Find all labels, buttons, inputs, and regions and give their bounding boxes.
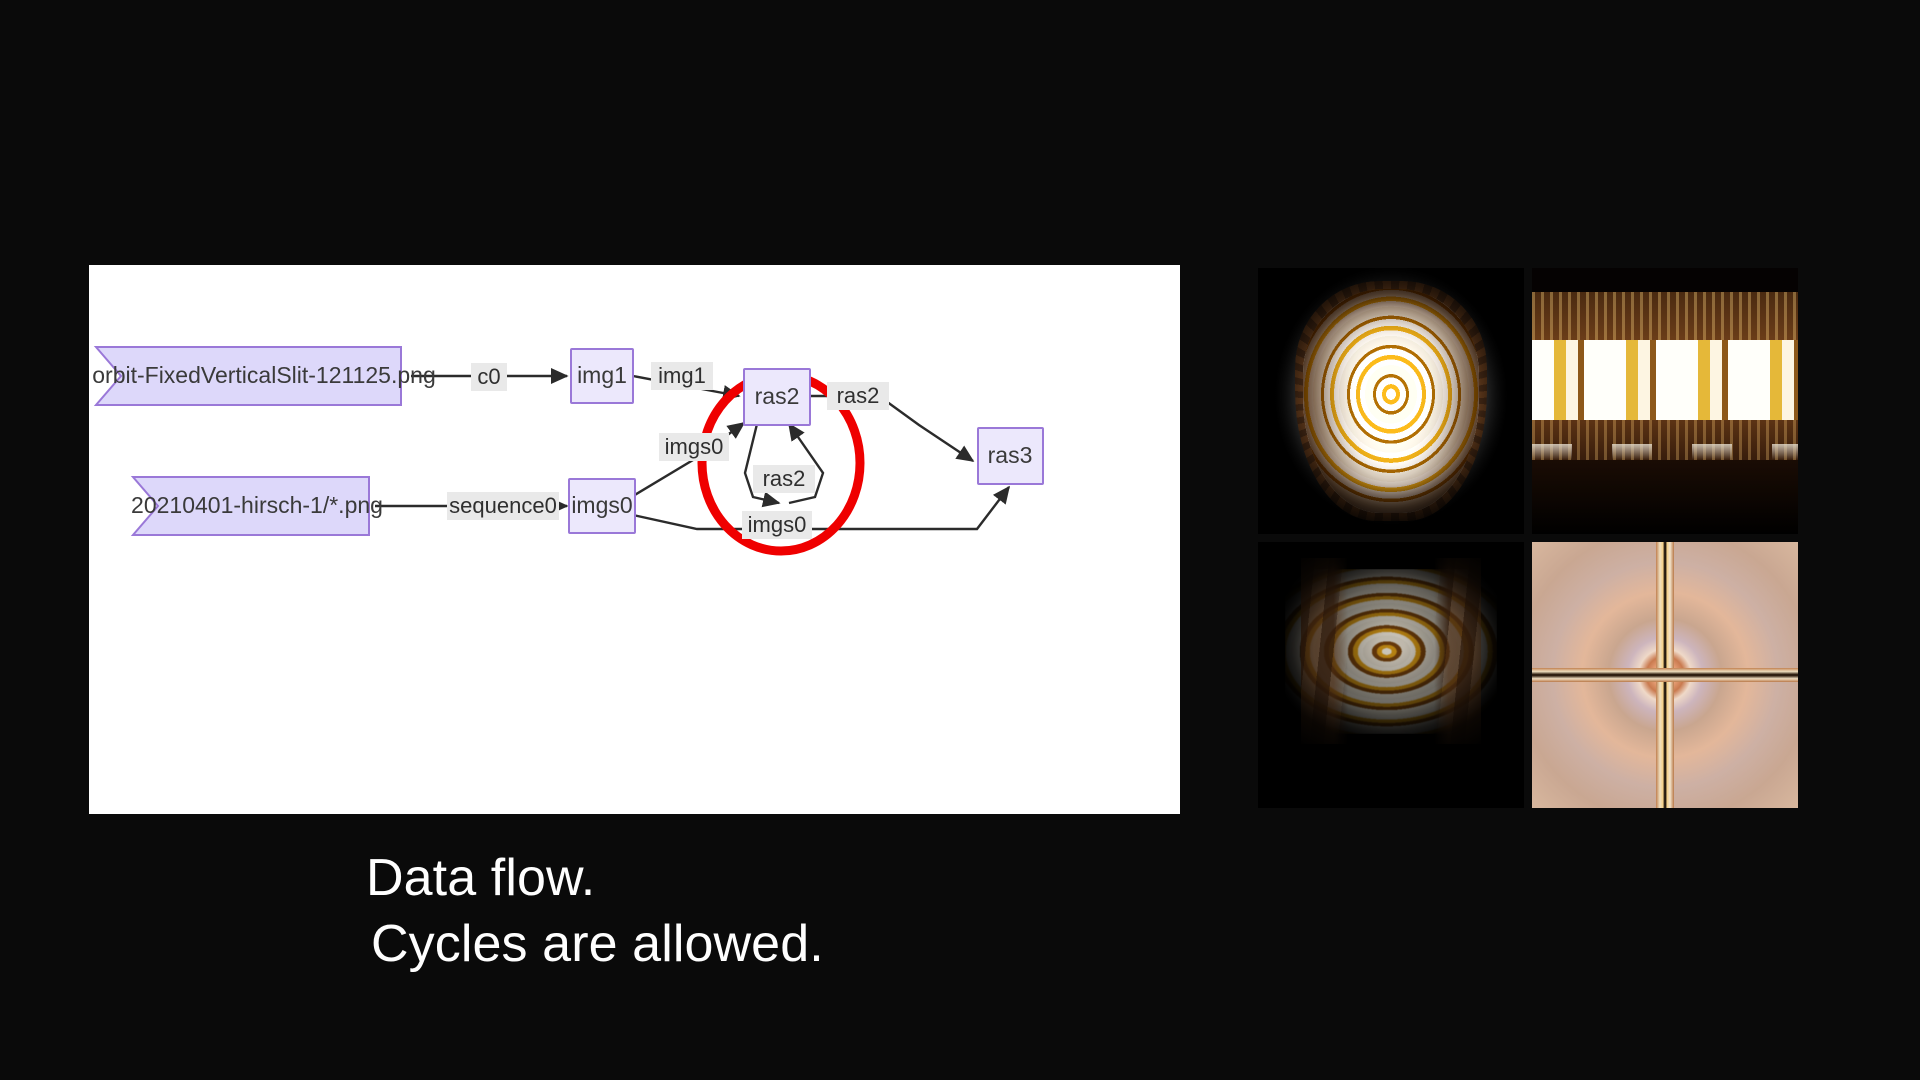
gold-band-top-edge — [1532, 292, 1798, 340]
node-img1-label: img1 — [577, 362, 627, 388]
node-input-hirsch[interactable]: 20210401-hirsch-1/*.png — [131, 477, 383, 535]
edge-label-img1: img1 — [651, 362, 713, 390]
slide-caption: Data flow. Cycles are allowed. — [366, 845, 824, 977]
symmetric-cross-art — [1532, 542, 1798, 808]
output-image-grid — [1258, 268, 1798, 814]
gold-band-art — [1532, 268, 1798, 534]
node-img1[interactable]: img1 — [571, 349, 633, 403]
caption-line-1: Data flow. — [366, 845, 824, 911]
edge-label-ras2-self: ras2 — [753, 465, 815, 493]
edge-label-imgs0-ras3-text: imgs0 — [748, 512, 807, 537]
edge-label-img1-text: img1 — [658, 363, 706, 388]
edge-imgs0-to-ras3 — [633, 487, 1009, 529]
blended-composite-vignette — [1258, 542, 1524, 808]
edge-label-ras2-self-text: ras2 — [763, 466, 806, 491]
cross-quadrant-top-left — [1532, 542, 1665, 675]
cross-quadrant-top-right — [1665, 542, 1798, 675]
edge-label-imgs0-ras3: imgs0 — [742, 511, 812, 539]
edge-label-imgs0-ras2-text: imgs0 — [665, 434, 724, 459]
cross-quadrant-bottom-left — [1532, 675, 1665, 808]
gold-band-wave — [1532, 444, 1798, 460]
edge-label-sequence0: sequence0 — [447, 492, 559, 520]
diagram-svg: orbit-FixedVerticalSlit-121125.png 20210… — [89, 265, 1180, 814]
node-imgs0[interactable]: imgs0 — [569, 479, 635, 533]
node-imgs0-label: imgs0 — [571, 492, 632, 518]
node-ras2-label: ras2 — [755, 383, 800, 409]
image-cell-bottom-right — [1532, 542, 1798, 808]
caption-line-2: Cycles are allowed. — [371, 911, 824, 977]
fractal-blob-vignette — [1258, 268, 1524, 534]
edge-label-sequence0-text: sequence0 — [449, 493, 557, 518]
edge-label-c0-text: c0 — [477, 364, 500, 389]
node-input-orbit-label: orbit-FixedVerticalSlit-121125.png — [92, 362, 435, 388]
cross-quadrant-bottom-right — [1665, 675, 1798, 808]
node-input-hirsch-label: 20210401-hirsch-1/*.png — [131, 492, 383, 518]
fractal-blob-art — [1258, 268, 1524, 534]
blended-composite-art — [1258, 542, 1524, 808]
gold-band-dark-area — [1532, 460, 1798, 534]
edge-label-imgs0-ras2: imgs0 — [659, 433, 729, 461]
slide-root: orbit-FixedVerticalSlit-121125.png 20210… — [0, 0, 1920, 1080]
node-ras2[interactable]: ras2 — [744, 369, 810, 425]
dataflow-diagram: orbit-FixedVerticalSlit-121125.png 20210… — [89, 265, 1180, 814]
edge-label-ras2-ras3-text: ras2 — [837, 383, 880, 408]
node-ras3[interactable]: ras3 — [978, 428, 1043, 484]
edge-label-ras2-ras3: ras2 — [827, 382, 889, 410]
edge-label-c0: c0 — [471, 363, 507, 391]
cross-horizontal-axis — [1532, 668, 1798, 682]
image-cell-top-right — [1532, 268, 1798, 534]
node-ras3-label: ras3 — [988, 442, 1033, 468]
node-input-orbit[interactable]: orbit-FixedVerticalSlit-121125.png — [92, 347, 435, 405]
image-cell-bottom-left — [1258, 542, 1524, 808]
image-cell-top-left — [1258, 268, 1524, 534]
